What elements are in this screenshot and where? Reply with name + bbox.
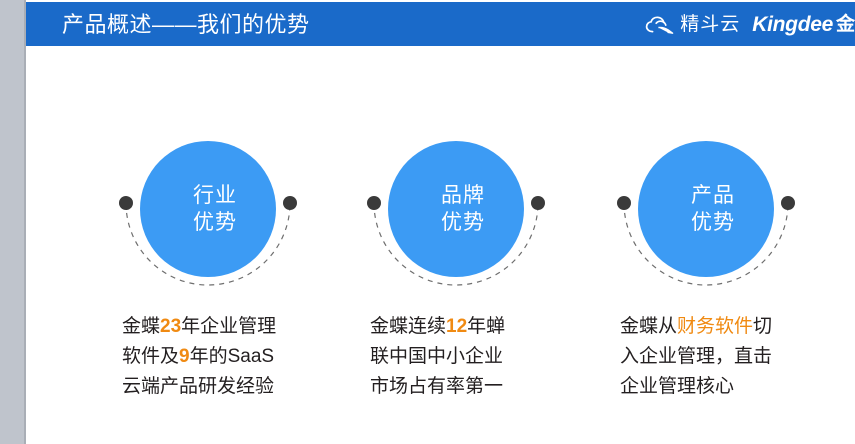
caption-text: 金蝶: [122, 316, 160, 337]
bubble-circle: 行业 优势: [140, 141, 276, 277]
caption-highlight: 9: [179, 346, 190, 367]
caption-text: 年企业管理: [181, 316, 276, 337]
caption-text: 年的SaaS: [190, 346, 274, 367]
advantage-card-brand: 品牌 优势 金蝶连续12年蝉 联中国中小企业 市场占有率第一: [356, 120, 606, 420]
logo-english-name: Kingdee: [752, 14, 833, 36]
caption-line: 软件及9年的SaaS: [122, 342, 362, 372]
caption-line: 云端产品研发经验: [122, 372, 362, 402]
advantage-card-industry: 行业 优势 金蝶23年企业管理 软件及9年的SaaS 云端产品研发经验: [108, 120, 358, 420]
caption-line: 金蝶连续12年蝉: [370, 312, 610, 342]
arc-endpoint-left-dot: [119, 196, 133, 210]
caption-text: 金蝶连续: [370, 316, 446, 337]
caption-line: 入企业管理，直击: [620, 342, 855, 372]
advantage-caption: 金蝶从财务软件切 入企业管理，直击 企业管理核心: [620, 312, 855, 402]
caption-line: 企业管理核心: [620, 372, 855, 402]
advantage-caption: 金蝶23年企业管理 软件及9年的SaaS 云端产品研发经验: [122, 312, 362, 402]
bubble-label-line1: 产品: [677, 182, 735, 209]
arc-endpoint-right-dot: [781, 196, 795, 210]
caption-text: 软件及: [122, 346, 179, 367]
advantages-group: 行业 优势 金蝶23年企业管理 软件及9年的SaaS 云端产品研发经验: [26, 120, 855, 420]
caption-highlight: 财务软件: [677, 316, 753, 337]
arc-endpoint-right-dot: [531, 196, 545, 210]
logo-chinese-suffix: 金: [836, 15, 855, 35]
caption-line: 金蝶23年企业管理: [122, 312, 362, 342]
left-gutter-strip: [0, 0, 24, 444]
slide-title-bar: 产品概述——我们的优势 精斗云 Kingdee 金: [26, 2, 855, 46]
cloud-icon: [645, 15, 675, 35]
caption-text: 联中国中小企业: [370, 346, 503, 367]
caption-line: 金蝶从财务软件切: [620, 312, 855, 342]
bubble-circle: 品牌 优势: [388, 141, 524, 277]
caption-text: 金蝶从: [620, 316, 677, 337]
caption-line: 市场占有率第一: [370, 372, 610, 402]
caption-text: 云端产品研发经验: [122, 376, 274, 397]
bubble-label-line1: 品牌: [427, 182, 485, 209]
caption-text: 切: [753, 316, 772, 337]
bubble-label-line1: 行业: [179, 182, 237, 209]
caption-line: 联中国中小企业: [370, 342, 610, 372]
bubble-label-line2: 优势: [179, 209, 237, 236]
arc-endpoint-left-dot: [617, 196, 631, 210]
kingdee-logo: 精斗云 Kingdee 金: [645, 13, 855, 37]
caption-highlight: 23: [160, 316, 181, 337]
caption-text: 企业管理核心: [620, 376, 734, 397]
arc-endpoint-right-dot: [283, 196, 297, 210]
caption-text: 入企业管理，直击: [620, 346, 772, 367]
caption-text: 市场占有率第一: [370, 376, 503, 397]
slide-canvas: 产品概述——我们的优势 精斗云 Kingdee 金 行业: [0, 0, 855, 444]
bubble-group: 产品 优势: [606, 120, 855, 288]
arc-endpoint-left-dot: [367, 196, 381, 210]
bubble-group: 品牌 优势: [356, 120, 606, 288]
advantage-card-product: 产品 优势 金蝶从财务软件切 入企业管理，直击 企业管理核心: [606, 120, 855, 420]
bubble-label-line2: 优势: [427, 209, 485, 236]
caption-text: 年蝉: [467, 316, 505, 337]
bubble-label-line2: 优势: [677, 209, 735, 236]
caption-highlight: 12: [446, 316, 467, 337]
logo-chinese-name: 精斗云: [680, 15, 740, 35]
page-title: 产品概述——我们的优势: [62, 12, 310, 38]
bubble-group: 行业 优势: [108, 120, 358, 288]
advantage-caption: 金蝶连续12年蝉 联中国中小企业 市场占有率第一: [370, 312, 610, 402]
bubble-circle: 产品 优势: [638, 141, 774, 277]
